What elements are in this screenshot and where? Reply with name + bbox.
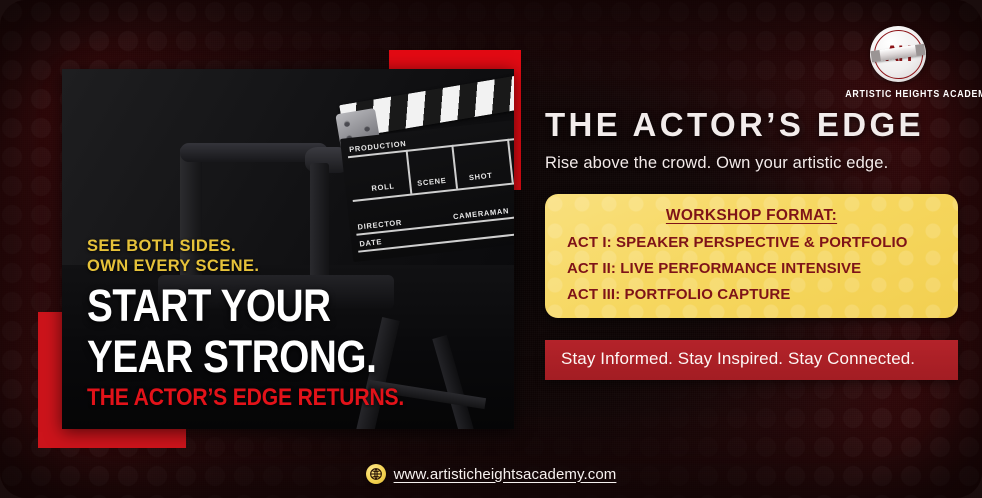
workshop-act-3: ACT III: PORTFOLIO CAPTURE <box>557 286 946 303</box>
logo-wordmark: ARTISTIC HEIGHTS ACADEMY <box>845 89 951 100</box>
workshop-format-card: WORKSHOP FORMAT: ACT I: SPEAKER PERSPECT… <box>545 194 958 318</box>
page-subtitle: Rise above the crowd. Own your artistic … <box>545 154 965 173</box>
globe-icon <box>366 464 386 484</box>
workshop-act-1: ACT I: SPEAKER PERSPECTIVE & PORTFOLIO <box>557 234 946 251</box>
poster-tagline-line-2: OWN EVERY SCENE. <box>87 256 487 276</box>
clapper-label-shot: SHOT <box>468 171 492 183</box>
poster-headline-line-2: YEAR STRONG. <box>87 336 431 377</box>
poster-photo-card: PRODUCTION ROLL SCENE SHOT TAKE DIRECTOR… <box>62 69 514 429</box>
logo-emblem-icon: AH <box>870 26 926 82</box>
clapper-label-roll: ROLL <box>371 181 395 192</box>
poster-tagline-line-1: SEE BOTH SIDES. <box>87 236 487 256</box>
page-title: THE ACTOR’S EDGE <box>545 108 965 143</box>
poster-text-block: SEE BOTH SIDES. OWN EVERY SCENE. START Y… <box>87 236 487 412</box>
academy-logo[interactable]: AH ARTISTIC HEIGHTS ACADEMY <box>838 26 958 100</box>
footer-website[interactable]: www.artisticheightsacademy.com <box>0 464 982 484</box>
workshop-act-2: ACT II: LIVE PERFORMANCE INTENSIVE <box>557 260 946 277</box>
poster-headline-line-1: START YOUR <box>87 285 431 326</box>
workshop-format-heading: WORKSHOP FORMAT: <box>557 207 946 225</box>
website-url[interactable]: www.artisticheightsacademy.com <box>394 466 617 483</box>
poster-subhead: THE ACTOR’S EDGE RETURNS. <box>87 384 439 412</box>
right-content-column: THE ACTOR’S EDGE Rise above the crowd. O… <box>545 108 965 380</box>
cta-text: Stay Informed. Stay Inspired. Stay Conne… <box>561 349 942 369</box>
cta-banner: Stay Informed. Stay Inspired. Stay Conne… <box>545 340 958 380</box>
promo-banner: PRODUCTION ROLL SCENE SHOT TAKE DIRECTOR… <box>0 0 982 498</box>
clapper-label-scene: SCENE <box>417 176 447 188</box>
